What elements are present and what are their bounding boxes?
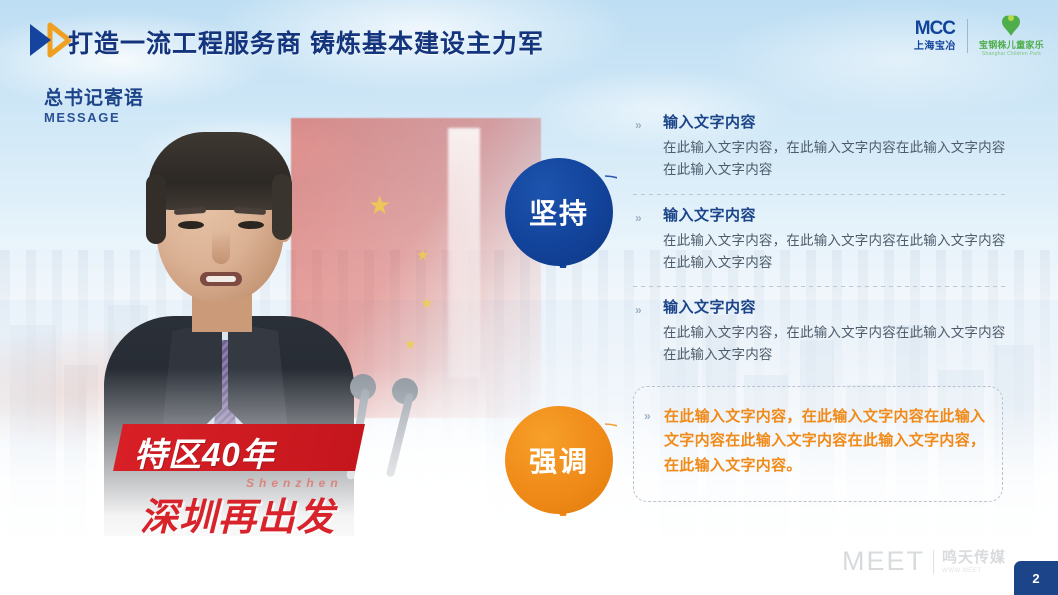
badge-keep[interactable]: 坚持 — [505, 156, 617, 268]
mcc-logo-mark: MCC — [915, 19, 955, 38]
badge-emphasis-label: 强调 — [505, 406, 613, 514]
list-item[interactable]: » 输入文字内容 在此输入文字内容，在此输入文字内容在此输入文字内容在此输入文字… — [633, 299, 1008, 366]
shenzhen-banner: 特区40年 Shenzhen 深圳再出发 — [118, 424, 408, 544]
tower-silhouette-icon — [448, 128, 480, 378]
logo-group: MCC 上海宝冶 宝钢株儿童家乐 Shanghai Children Park — [914, 14, 1044, 57]
logo-divider — [967, 19, 968, 53]
watermark: MEET 鸣天传媒 WWW.MEET — [842, 546, 1006, 577]
double-chevron-right-icon: » — [644, 409, 650, 423]
hair-left-shape — [146, 174, 166, 244]
list-item[interactable]: » 输入文字内容 在此输入文字内容，在此输入文字内容在此输入文字内容在此输入文字… — [633, 114, 1008, 181]
list-item-heading: 输入文字内容 — [663, 207, 1008, 225]
content-list: » 输入文字内容 在此输入文字内容，在此输入文字内容在此输入文字内容在此输入文字… — [633, 114, 1008, 366]
play-triangle-icon — [24, 21, 74, 59]
callout-text: 在此输入文字内容，在此输入文字内容在此输入文字内容在此输入文字内容在此输入文字内… — [664, 405, 986, 478]
banner-line2: 深圳再出发 — [140, 486, 335, 541]
hair-right-shape — [272, 174, 292, 240]
flag-star-icon: ★ — [404, 336, 417, 353]
watermark-url: WWW.MEET — [942, 568, 1006, 574]
badge-emphasis[interactable]: 强调 — [505, 404, 617, 516]
double-chevron-right-icon: » — [635, 303, 641, 317]
banner-line1: 特区40年 — [134, 428, 384, 476]
page-number-badge: 2 — [1014, 561, 1058, 595]
eye-right-shape — [238, 221, 264, 229]
list-item-body: 在此输入文字内容，在此输入文字内容在此输入文字内容在此输入文字内容 — [663, 137, 1008, 181]
slide-root: 打造一流工程服务商 铸炼基本建设主力军 总书记寄语 MESSAGE MCC 上海… — [0, 0, 1058, 595]
list-item-body: 在此输入文字内容，在此输入文字内容在此输入文字内容在此输入文字内容 — [663, 322, 1008, 366]
list-separator — [633, 194, 1008, 195]
section-title-cn: 总书记寄语 — [44, 83, 144, 110]
list-item-heading: 输入文字内容 — [663, 299, 1008, 317]
list-separator — [633, 286, 1008, 287]
watermark-en: MEET — [842, 546, 925, 577]
double-chevron-right-icon: » — [635, 211, 641, 225]
watermark-cn: 鸣天传媒 — [942, 550, 1006, 565]
nose-shape — [212, 230, 230, 264]
butterfly-icon — [996, 14, 1026, 38]
mcc-logo-icon: MCC 上海宝冶 — [914, 19, 956, 52]
list-item-body: 在此输入文字内容，在此输入文字内容在此输入文字内容在此输入文字内容 — [663, 230, 1008, 274]
teeth-shape — [206, 276, 236, 282]
list-item-heading: 输入文字内容 — [663, 114, 1008, 132]
mcc-logo-label: 上海宝冶 — [914, 42, 956, 52]
page-title: 打造一流工程服务商 铸炼基本建设主力军 — [68, 24, 544, 60]
list-item[interactable]: » 输入文字内容 在此输入文字内容，在此输入文字内容在此输入文字内容在此输入文字… — [633, 207, 1008, 274]
flag-star-icon: ★ — [420, 294, 433, 312]
badge-keep-label: 坚持 — [505, 158, 613, 266]
flag-star-icon: ★ — [416, 246, 429, 264]
watermark-cn-group: 鸣天传媒 WWW.MEET — [942, 550, 1006, 574]
partner-logo-label: 宝钢株儿童家乐 — [979, 41, 1044, 50]
emphasis-callout[interactable]: » 在此输入文字内容，在此输入文字内容在此输入文字内容在此输入文字内容在此输入文… — [633, 386, 1003, 502]
watermark-divider — [933, 550, 934, 574]
eye-left-shape — [178, 221, 204, 229]
hair-shape — [148, 132, 292, 210]
double-chevron-right-icon: » — [635, 118, 641, 132]
partner-logo-sublabel: Shanghai Children Park — [982, 52, 1041, 57]
flag-star-icon: ★ — [368, 190, 391, 221]
green-butterfly-logo-icon: 宝钢株儿童家乐 Shanghai Children Park — [979, 14, 1044, 57]
